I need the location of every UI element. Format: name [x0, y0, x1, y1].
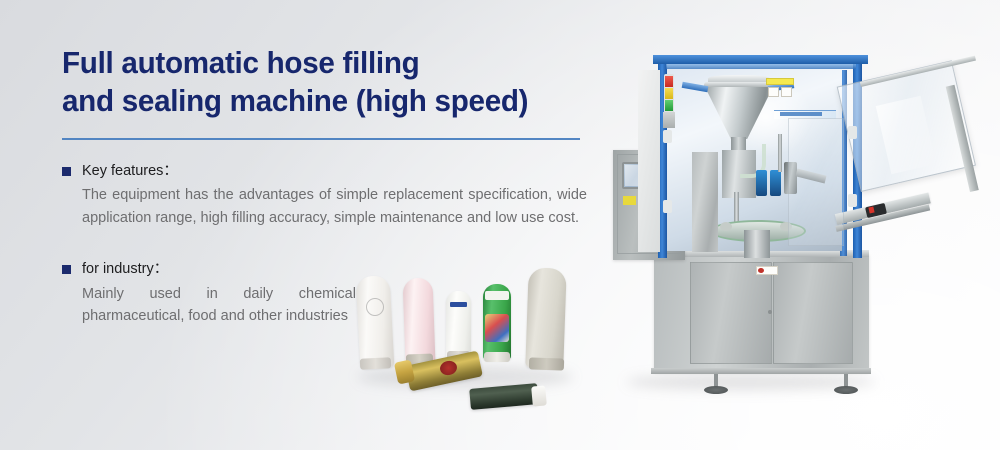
- taupe-tube: [525, 267, 566, 368]
- bullet-square-icon: [62, 167, 71, 176]
- conveyor-switch-red[interactable]: [868, 207, 874, 214]
- sunplay-label: [485, 291, 509, 300]
- frame-clamp-3: [848, 126, 857, 139]
- section-key-features: Key features： The equipment has the adva…: [62, 162, 592, 230]
- vertical-guide-rod: [778, 134, 782, 172]
- rear-guard-panel: [788, 118, 844, 246]
- section-heading: Key features：: [62, 162, 592, 182]
- left-side-panel: [638, 70, 660, 252]
- white-tube: [356, 275, 395, 369]
- frame-beam-top: [653, 55, 868, 64]
- signal-tower-base: [663, 112, 675, 128]
- inner-left-housing: [692, 152, 718, 252]
- turntable-socket-1: [720, 222, 732, 231]
- brand-text-mark: [780, 112, 822, 116]
- signal-light-green: [665, 100, 673, 111]
- section-label: for industry：: [82, 260, 168, 280]
- bullet-square-icon: [62, 265, 71, 274]
- hazard-sticker-1: [766, 78, 794, 85]
- pink-tube: [403, 278, 436, 364]
- cabinet-door-right: [773, 262, 853, 364]
- sealing-head-left: [756, 170, 767, 196]
- frame-clamp-2: [663, 200, 672, 213]
- banner-stage: Full automatic hose filling and sealing …: [0, 0, 1000, 450]
- cosmetic-tubes-group: [352, 258, 592, 423]
- section-body: Mainly used in daily chemical, pharmaceu…: [82, 283, 360, 329]
- signal-light-amber: [665, 88, 673, 99]
- section-body: The equipment has the advantages of simp…: [82, 184, 587, 230]
- dark-green-tube: [469, 383, 539, 410]
- adjustable-foot-right-pad: [834, 386, 858, 394]
- turntable-hub: [744, 230, 770, 258]
- frame-clamp-1: [663, 130, 672, 143]
- dark-green-tube-cap: [531, 385, 547, 406]
- taupe-tube-cap: [529, 357, 564, 370]
- white-blue-tube-print: [450, 302, 467, 307]
- page-title: Full automatic hose filling and sealing …: [62, 44, 568, 120]
- hazard-sticker-2: [768, 87, 779, 97]
- ce-label: [623, 196, 636, 205]
- cabinet-door-handle[interactable]: [768, 310, 772, 314]
- warning-label-mark: [758, 268, 764, 273]
- hose-filling-sealing-machine: [598, 22, 998, 422]
- hazard-sticker-3: [781, 87, 792, 97]
- signal-light-red: [665, 76, 673, 87]
- hmi-screen-glare: [625, 165, 639, 186]
- sealing-head-right: [770, 170, 781, 196]
- frame-clamp-4: [848, 194, 857, 207]
- white-tube-cap: [360, 357, 392, 370]
- sunplay-artwork: [485, 314, 509, 342]
- adjustable-foot-left-pad: [704, 386, 728, 394]
- section-label: Key features：: [82, 162, 178, 182]
- cabinet-door-left: [690, 262, 772, 364]
- title-divider: [62, 138, 580, 140]
- cabinet-base-rail: [651, 368, 871, 374]
- green-sunplay-tube-cap: [484, 352, 510, 362]
